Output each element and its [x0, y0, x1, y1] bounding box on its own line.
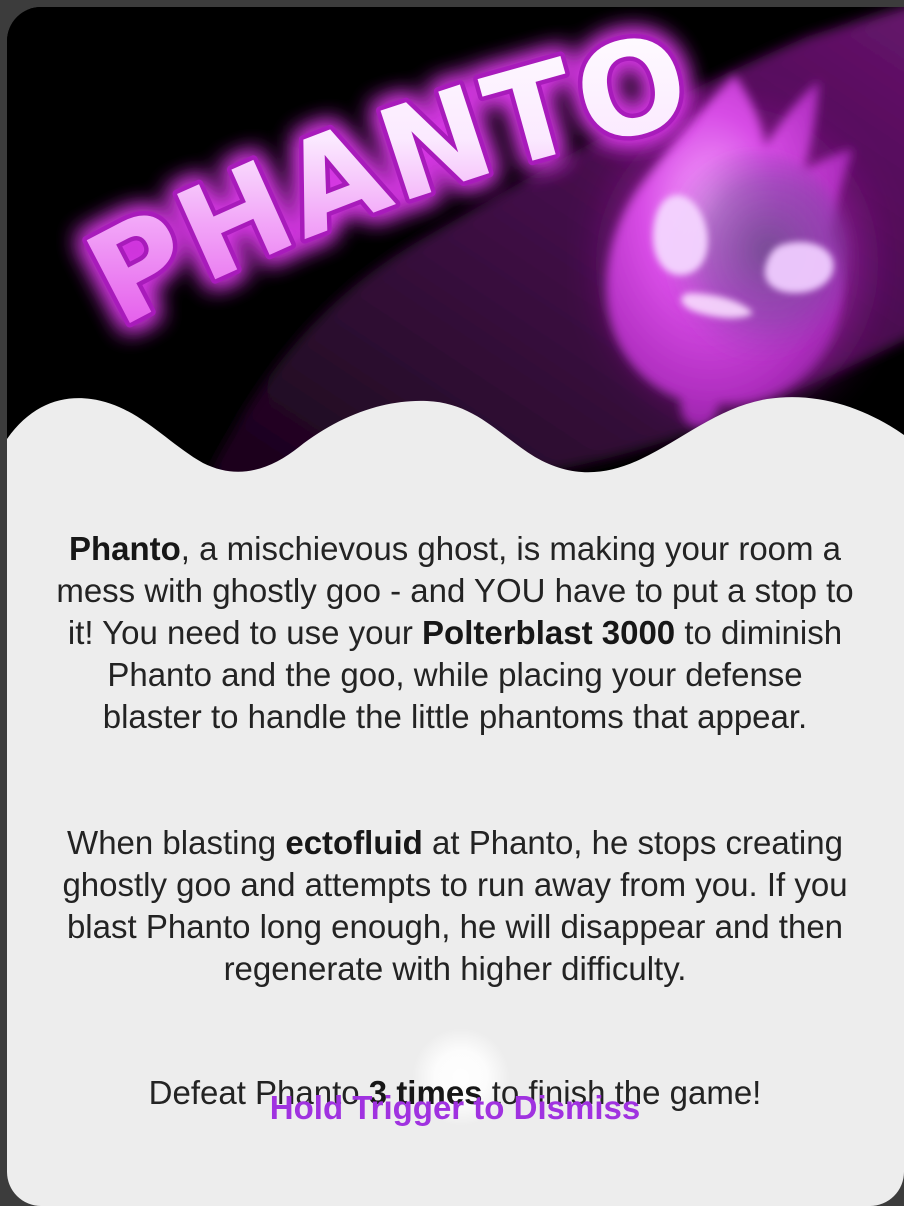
ectofluid-bold: ectofluid [285, 824, 423, 861]
hero-art-area: PHANTO PHANTO PHANTO [7, 7, 904, 477]
paragraph-intro: Phanto, a mischievous ghost, is making y… [55, 528, 855, 738]
phanto-bold-lead: Phanto [69, 530, 181, 567]
phanto-info-card: PHANTO PHANTO PHANTO Phanto, a mischievo… [7, 7, 904, 1206]
description-content: Phanto, a mischievous ghost, is making y… [7, 477, 904, 1206]
paragraph-mechanics: When blasting ectofluid at Phanto, he st… [55, 822, 855, 990]
paragraph-mechanics-part1: When blasting [67, 824, 285, 861]
phanto-wordmark: PHANTO PHANTO PHANTO [102, 77, 782, 377]
dismiss-hint[interactable]: Hold Trigger to Dismiss [55, 1087, 855, 1129]
polterblast-bold: Polterblast 3000 [422, 614, 675, 651]
